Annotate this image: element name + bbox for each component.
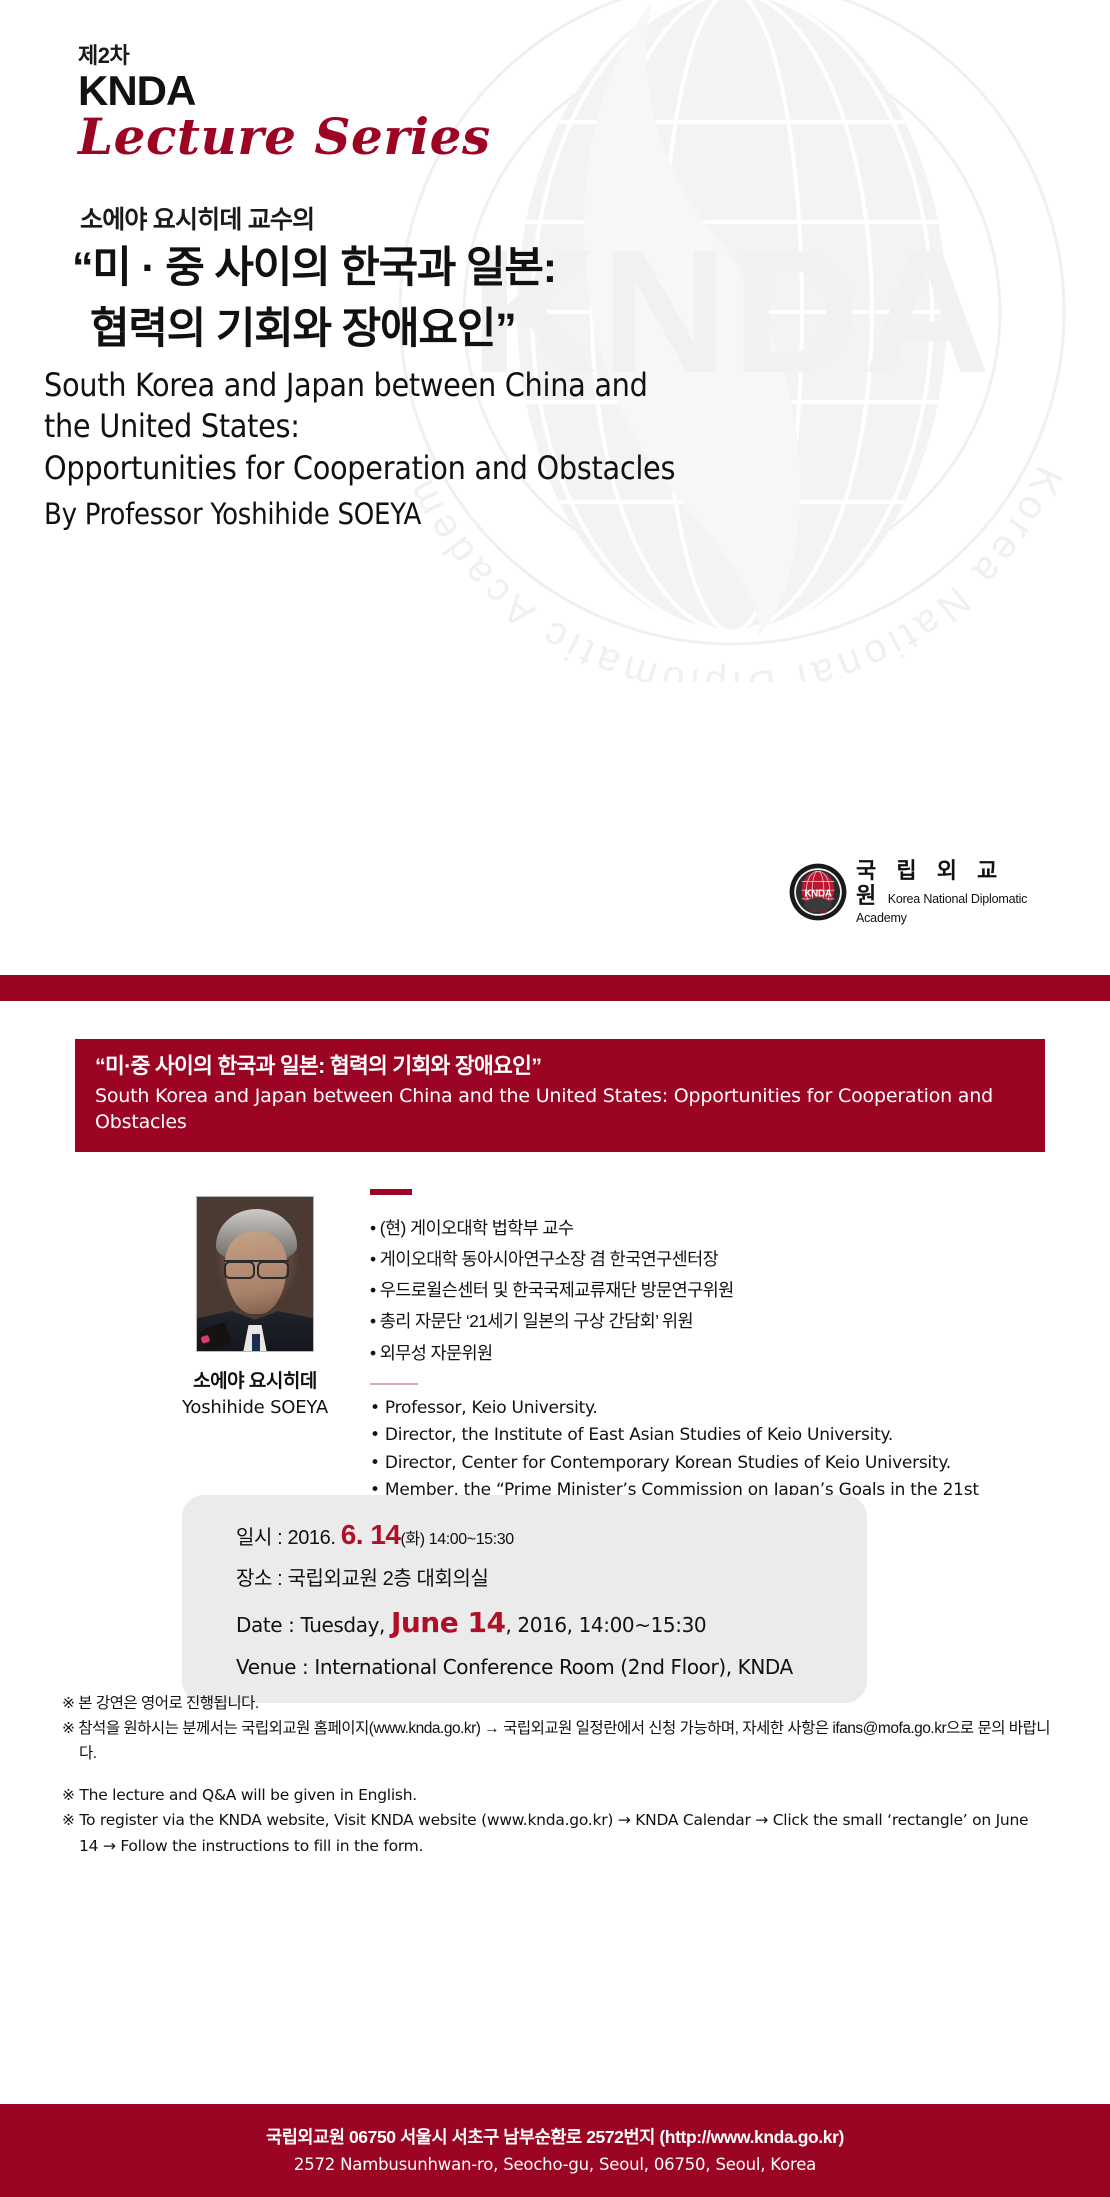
portrait-tie bbox=[252, 1334, 260, 1351]
event-date-korean: 일시 : 2016. 6. 14(화) 14:00~15:30 bbox=[236, 1521, 867, 1549]
speaker-photo bbox=[196, 1196, 314, 1352]
speaker-name-english: Yoshihide SOEYA bbox=[165, 1397, 345, 1418]
section-divider-band bbox=[0, 975, 1110, 1001]
speaker-name-korean: 소에야 요시히데 bbox=[165, 1366, 345, 1393]
date-kr-label: 일시 : bbox=[236, 1527, 287, 1549]
bio-list-korean: • (현) 게이오대학 법학부 교수 • 게이오대학 동아시아연구소장 겸 한국… bbox=[370, 1213, 1010, 1369]
note-korean-2: ※ 참석을 원하시는 분께서는 국립외교원 홈페이지(www.knda.go.k… bbox=[62, 1716, 1052, 1766]
korean-title-line-1: “미 · 중 사이의 한국과 일본: bbox=[72, 244, 556, 292]
list-item: • Director, Center for Contemporary Kore… bbox=[370, 1450, 1010, 1478]
date-en-label: Date : Tuesday, bbox=[236, 1613, 391, 1637]
banner-english-line-1: South Korea and Japan between China and … bbox=[95, 1085, 832, 1107]
knda-seal-icon: KNDA 국립외교원 bbox=[789, 863, 847, 921]
bio-rule-middle bbox=[370, 1383, 418, 1385]
footer-address-korean: 국립외교원 06750 서울시 서초구 남부순환로 2572번지 (http:/… bbox=[266, 2124, 844, 2150]
note-korean-1: ※ 본 강연은 영어로 진행됩니다. bbox=[62, 1691, 1052, 1716]
note-english-2: ※ To register via the KNDA website, Visi… bbox=[62, 1808, 1052, 1858]
event-date-english: Date : Tuesday, June 14, 2016, 14:00~15:… bbox=[236, 1609, 867, 1637]
list-item: • 총리 자문단 ‘21세기 일본의 구상 간담회’ 위원 bbox=[370, 1306, 1010, 1337]
english-title-line-2: the United States: bbox=[44, 406, 675, 447]
event-venue-korean: 장소 : 국립외교원 2층 대회의실 bbox=[236, 1569, 867, 1589]
date-kr-highlight: 6. 14 bbox=[341, 1519, 401, 1550]
korean-title: “미 · 중 사이의 한국과 일본: 협력의 기회와 장애요인” bbox=[72, 238, 556, 360]
poster-top-panel: 제2차 KNDA Lecture Series 소에야 요시히데 교수의 “미 … bbox=[0, 0, 1110, 975]
list-item: • Director, the Institute of East Asian … bbox=[370, 1422, 1010, 1450]
date-en-tail: , 2016, 14:00~15:30 bbox=[505, 1613, 706, 1637]
series-label: Lecture Series bbox=[78, 111, 491, 164]
glasses-icon bbox=[224, 1260, 289, 1275]
event-info-box: 일시 : 2016. 6. 14(화) 14:00~15:30 장소 : 국립외… bbox=[182, 1495, 867, 1703]
lecture-kicker: 소에야 요시히데 교수의 bbox=[80, 200, 314, 236]
poster-footer: 국립외교원 06750 서울시 서초구 남부순환로 2572번지 (http:/… bbox=[0, 2104, 1110, 2197]
date-kr-tail: (화) 14:00~15:30 bbox=[400, 1531, 513, 1548]
brand-block: 제2차 KNDA Lecture Series bbox=[78, 44, 491, 164]
date-en-highlight: June 14 bbox=[391, 1606, 506, 1639]
series-number: 제2차 bbox=[78, 44, 491, 68]
svg-text:국립외교원: 국립외교원 bbox=[809, 908, 828, 914]
banner-english-title: South Korea and Japan between China and … bbox=[95, 1084, 1025, 1136]
speaker-block: 소에야 요시히데 Yoshihide SOEYA bbox=[165, 1196, 345, 1418]
english-title-line-1: South Korea and Japan between China and bbox=[44, 365, 675, 406]
byline: By Professor Yoshihide SOEYA bbox=[44, 496, 675, 533]
list-item: • (현) 게이오대학 법학부 교수 bbox=[370, 1213, 1010, 1244]
list-item: • 우드로윌슨센터 및 한국국제교류재단 방문연구위원 bbox=[370, 1275, 1010, 1306]
svg-text:KNDA: KNDA bbox=[804, 889, 831, 900]
knda-logo: KNDA 국립외교원 국 립 외 교 원 Korea National Dipl… bbox=[789, 861, 1041, 923]
english-title-line-3: Opportunities for Cooperation and Obstac… bbox=[44, 448, 675, 489]
list-item: • 게이오대학 동아시아연구소장 겸 한국연구센터장 bbox=[370, 1244, 1010, 1275]
note-spacer bbox=[62, 1766, 1052, 1783]
title-banner: “미·중 사이의 한국과 일본: 협력의 기회와 장애요인” South Kor… bbox=[75, 1039, 1045, 1152]
knda-logo-text: 국 립 외 교 원 Korea National Diplomatic Acad… bbox=[856, 857, 1041, 926]
list-item: • Professor, Keio University. bbox=[370, 1395, 1010, 1423]
date-kr-year: 2016. bbox=[287, 1527, 340, 1549]
korean-title-line-2: 협력의 기회와 장애요인” bbox=[72, 299, 556, 360]
english-title: South Korea and Japan between China and … bbox=[44, 365, 675, 533]
event-venue-english: Venue : International Conference Room (2… bbox=[236, 1657, 867, 1677]
list-item: • 외무성 자문위원 bbox=[370, 1338, 1010, 1369]
footer-address-english: 2572 Nambusunhwan-ro, Seocho-gu, Seoul, … bbox=[294, 2153, 816, 2178]
note-english-1: ※ The lecture and Q&A will be given in E… bbox=[62, 1783, 1052, 1808]
banner-korean-title: “미·중 사이의 한국과 일본: 협력의 기회와 장애요인” bbox=[95, 1052, 1025, 1081]
bio-rule-top bbox=[370, 1189, 412, 1195]
notes-block: ※ 본 강연은 영어로 진행됩니다. ※ 참석을 원하시는 분께서는 국립외교원… bbox=[62, 1691, 1052, 1859]
